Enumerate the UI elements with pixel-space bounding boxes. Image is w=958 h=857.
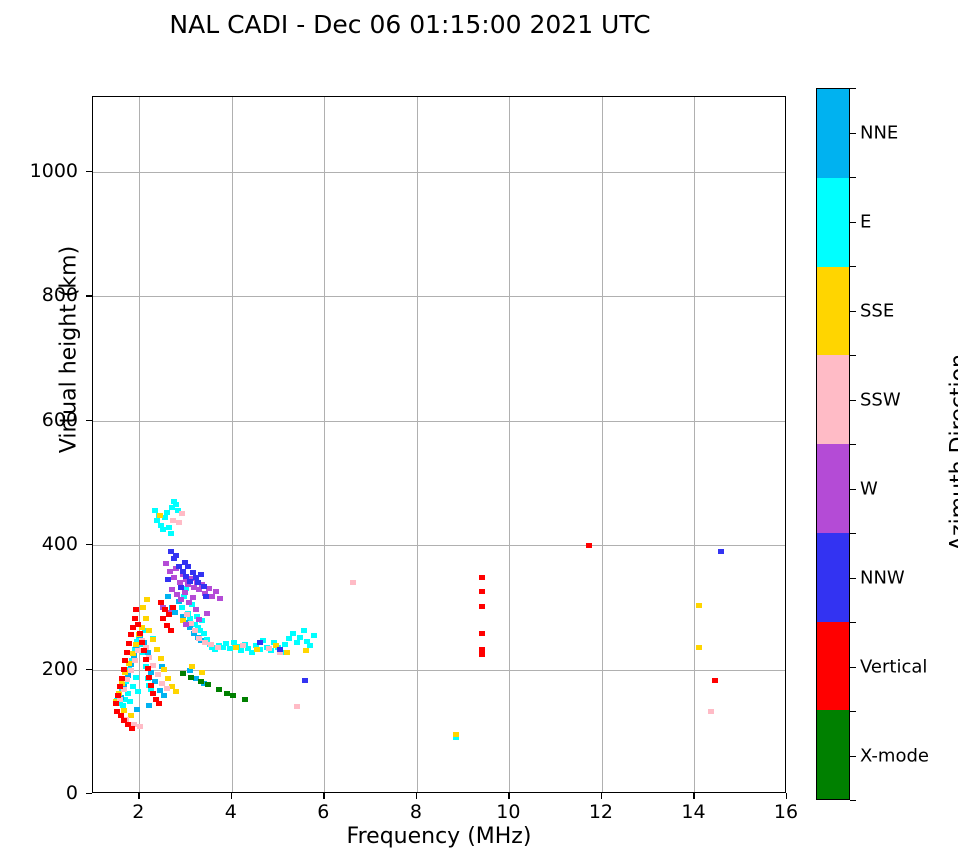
data-point	[182, 560, 188, 565]
data-point	[186, 600, 192, 605]
data-point	[479, 652, 485, 657]
colorbar-boundary-tick	[850, 800, 856, 801]
x-tick-label: 16	[774, 801, 798, 823]
data-point	[204, 611, 210, 616]
data-point	[168, 628, 174, 633]
data-point	[161, 693, 167, 698]
gridline-vertical	[139, 97, 140, 792]
data-point	[172, 610, 178, 615]
data-point	[193, 607, 199, 612]
data-point	[135, 689, 141, 694]
data-point	[188, 675, 194, 680]
data-point	[158, 656, 164, 661]
data-point	[168, 531, 174, 536]
colorbar-band-sse[interactable]	[817, 267, 849, 356]
data-point	[165, 577, 171, 582]
gridline-horizontal	[93, 545, 785, 546]
data-point	[127, 699, 133, 704]
data-point	[215, 645, 221, 650]
y-tick-mark	[86, 793, 92, 794]
x-tick-label: 12	[589, 801, 613, 823]
data-point	[150, 691, 156, 696]
y-tick-mark	[86, 544, 92, 545]
colorbar-tick	[850, 489, 856, 490]
colorbar-band-e[interactable]	[817, 178, 849, 267]
y-tick-label: 200	[0, 658, 78, 680]
data-point	[124, 677, 130, 682]
data-point	[453, 732, 459, 737]
data-point	[161, 667, 167, 672]
colorbar-tick	[850, 667, 856, 668]
data-point	[164, 510, 170, 515]
data-point	[124, 650, 130, 655]
colorbar-band-w[interactable]	[817, 444, 849, 533]
data-point	[146, 703, 152, 708]
data-point	[135, 622, 141, 627]
x-tick-mark	[231, 793, 232, 799]
colorbar-boundary-tick	[850, 711, 856, 712]
data-point	[205, 682, 211, 687]
data-point	[170, 518, 176, 523]
x-axis-title: Frequency (MHz)	[92, 824, 786, 849]
data-point	[133, 642, 139, 647]
colorbar-title: Azimuth Direction	[947, 203, 958, 703]
x-tick-mark	[138, 793, 139, 799]
data-point	[286, 636, 292, 641]
data-point	[143, 657, 149, 662]
colorbar-band-vertical[interactable]	[817, 622, 849, 711]
data-point	[297, 635, 303, 640]
colorbar-boundary-tick	[850, 177, 856, 178]
data-point	[145, 666, 151, 671]
x-tick-label: 4	[225, 801, 237, 823]
data-point	[192, 628, 198, 633]
data-point	[696, 645, 702, 650]
data-point	[209, 594, 215, 599]
colorbar-label-sse: SSE	[860, 300, 894, 321]
data-point	[166, 612, 172, 617]
x-tick-mark	[786, 793, 787, 799]
data-point	[184, 612, 190, 617]
data-point	[216, 687, 222, 692]
colorbar-boundary-tick	[850, 533, 856, 534]
data-point	[199, 670, 205, 675]
colorbar-band-nne[interactable]	[817, 89, 849, 178]
data-point	[224, 691, 230, 696]
colorbar-tick	[850, 222, 856, 223]
data-point	[183, 622, 189, 627]
data-point	[254, 647, 260, 652]
data-point	[146, 628, 152, 633]
data-point	[150, 663, 156, 668]
colorbar-tick	[850, 400, 856, 401]
data-point	[179, 511, 185, 516]
data-point	[294, 704, 300, 709]
colorbar-tick	[850, 756, 856, 757]
y-axis-title: Virtual height (km)	[57, 50, 82, 650]
gridline-vertical	[509, 97, 510, 792]
data-point	[201, 584, 207, 589]
data-point	[122, 658, 128, 663]
data-point	[133, 607, 139, 612]
data-point	[157, 513, 163, 518]
data-point	[718, 549, 724, 554]
colorbar-label-x-mode: X-mode	[860, 745, 929, 766]
data-point	[233, 645, 239, 650]
data-point	[115, 693, 121, 698]
gridline-vertical	[694, 97, 695, 792]
data-point	[128, 632, 134, 637]
colorbar-boundary-tick	[850, 355, 856, 356]
data-point	[302, 678, 308, 683]
data-point	[137, 631, 143, 636]
data-point	[158, 600, 164, 605]
data-point	[119, 676, 125, 681]
colorbar-tick	[850, 578, 856, 579]
data-point	[712, 678, 718, 683]
data-point	[148, 683, 154, 688]
data-point	[479, 589, 485, 594]
gridline-horizontal	[93, 296, 785, 297]
gridline-vertical	[602, 97, 603, 792]
data-point	[128, 668, 134, 673]
colorbar-tick	[850, 311, 856, 312]
data-point	[230, 693, 236, 698]
colorbar-boundary-tick	[850, 444, 856, 445]
data-point	[150, 637, 156, 642]
data-point	[173, 502, 179, 507]
gridline-horizontal	[93, 670, 785, 671]
data-point	[165, 676, 171, 681]
plot-area	[93, 97, 785, 792]
data-point	[189, 664, 195, 669]
plot-frame	[92, 96, 786, 793]
data-point	[173, 689, 179, 694]
page-title: NAL CADI - Dec 06 01:15:00 2021 UTC	[0, 10, 820, 39]
data-point	[176, 520, 182, 525]
data-point	[284, 650, 290, 655]
data-point	[132, 658, 138, 663]
x-tick-label: 14	[681, 801, 705, 823]
data-point	[139, 640, 145, 645]
data-point	[182, 590, 188, 595]
data-point	[303, 648, 309, 653]
data-point	[129, 726, 135, 731]
data-point	[301, 628, 307, 633]
gridline-horizontal	[93, 421, 785, 422]
data-point	[141, 648, 147, 653]
data-point	[178, 585, 184, 590]
colorbar-label-nne: NNE	[860, 122, 898, 143]
colorbar-label-e: E	[860, 211, 871, 232]
data-point	[277, 647, 283, 652]
x-tick-mark	[416, 793, 417, 799]
colorbar-tick	[850, 133, 856, 134]
colorbar-boundary-tick	[850, 622, 856, 623]
azimuth-colorbar[interactable]	[816, 88, 850, 800]
data-point	[190, 595, 196, 600]
data-point	[164, 686, 170, 691]
data-point	[156, 701, 162, 706]
y-tick-mark	[86, 669, 92, 670]
data-point	[178, 597, 184, 602]
data-point	[173, 553, 179, 558]
colorbar-band-x-mode[interactable]	[817, 710, 849, 799]
data-point	[203, 594, 209, 599]
data-point	[696, 603, 702, 608]
data-point	[479, 631, 485, 636]
data-point	[708, 709, 714, 714]
data-point	[187, 668, 193, 673]
x-tick-mark	[323, 793, 324, 799]
data-point	[227, 646, 233, 651]
data-point	[179, 605, 185, 610]
y-tick-mark	[86, 171, 92, 172]
x-tick-label: 6	[317, 801, 329, 823]
colorbar-label-vertical: Vertical	[860, 656, 927, 677]
data-point	[121, 667, 127, 672]
data-point	[198, 679, 204, 684]
colorbar-boundary-tick	[850, 266, 856, 267]
data-point	[133, 675, 139, 680]
data-point	[134, 707, 140, 712]
data-point	[290, 631, 296, 636]
colorbar-band-ssw[interactable]	[817, 355, 849, 444]
data-point	[479, 575, 485, 580]
data-point	[137, 724, 143, 729]
data-point	[113, 701, 119, 706]
data-point	[126, 641, 132, 646]
data-point	[170, 605, 176, 610]
data-point	[213, 589, 219, 594]
data-point	[140, 605, 146, 610]
colorbar-label-ssw: SSW	[860, 389, 901, 410]
data-point	[479, 604, 485, 609]
data-point	[162, 515, 168, 520]
gridline-vertical	[324, 97, 325, 792]
y-tick-mark	[86, 420, 92, 421]
data-point	[311, 633, 317, 638]
data-point	[294, 640, 300, 645]
data-point	[163, 561, 169, 566]
x-tick-label: 8	[410, 801, 422, 823]
colorbar-label-nnw: NNW	[860, 567, 905, 588]
data-point	[146, 675, 152, 680]
data-point	[155, 672, 161, 677]
data-point	[160, 616, 166, 621]
x-tick-label: 2	[132, 801, 144, 823]
colorbar-band-nnw[interactable]	[817, 533, 849, 622]
gridline-vertical	[232, 97, 233, 792]
data-point	[350, 580, 356, 585]
data-point	[167, 569, 173, 574]
data-point	[165, 594, 171, 599]
gridline-horizontal	[93, 172, 785, 173]
colorbar-label-w: W	[860, 478, 878, 499]
data-point	[240, 643, 246, 648]
x-tick-mark	[508, 793, 509, 799]
data-point	[180, 671, 186, 676]
x-tick-label: 10	[496, 801, 520, 823]
data-point	[198, 572, 204, 577]
x-tick-mark	[693, 793, 694, 799]
data-point	[171, 575, 177, 580]
data-point	[586, 543, 592, 548]
data-point	[242, 697, 248, 702]
data-point	[144, 597, 150, 602]
colorbar-boundary-tick	[850, 88, 856, 89]
y-tick-mark	[86, 295, 92, 296]
data-point	[120, 703, 126, 708]
data-point	[217, 596, 223, 601]
y-tick-label: 0	[0, 782, 78, 804]
data-point	[143, 616, 149, 621]
data-point	[223, 641, 229, 646]
data-point	[257, 640, 263, 645]
data-point	[266, 646, 272, 651]
gridline-vertical	[417, 97, 418, 792]
data-point	[117, 684, 123, 689]
data-point	[196, 617, 202, 622]
data-point	[132, 616, 138, 621]
data-point	[154, 647, 160, 652]
data-point	[208, 642, 214, 647]
x-tick-mark	[601, 793, 602, 799]
data-point	[166, 525, 172, 530]
